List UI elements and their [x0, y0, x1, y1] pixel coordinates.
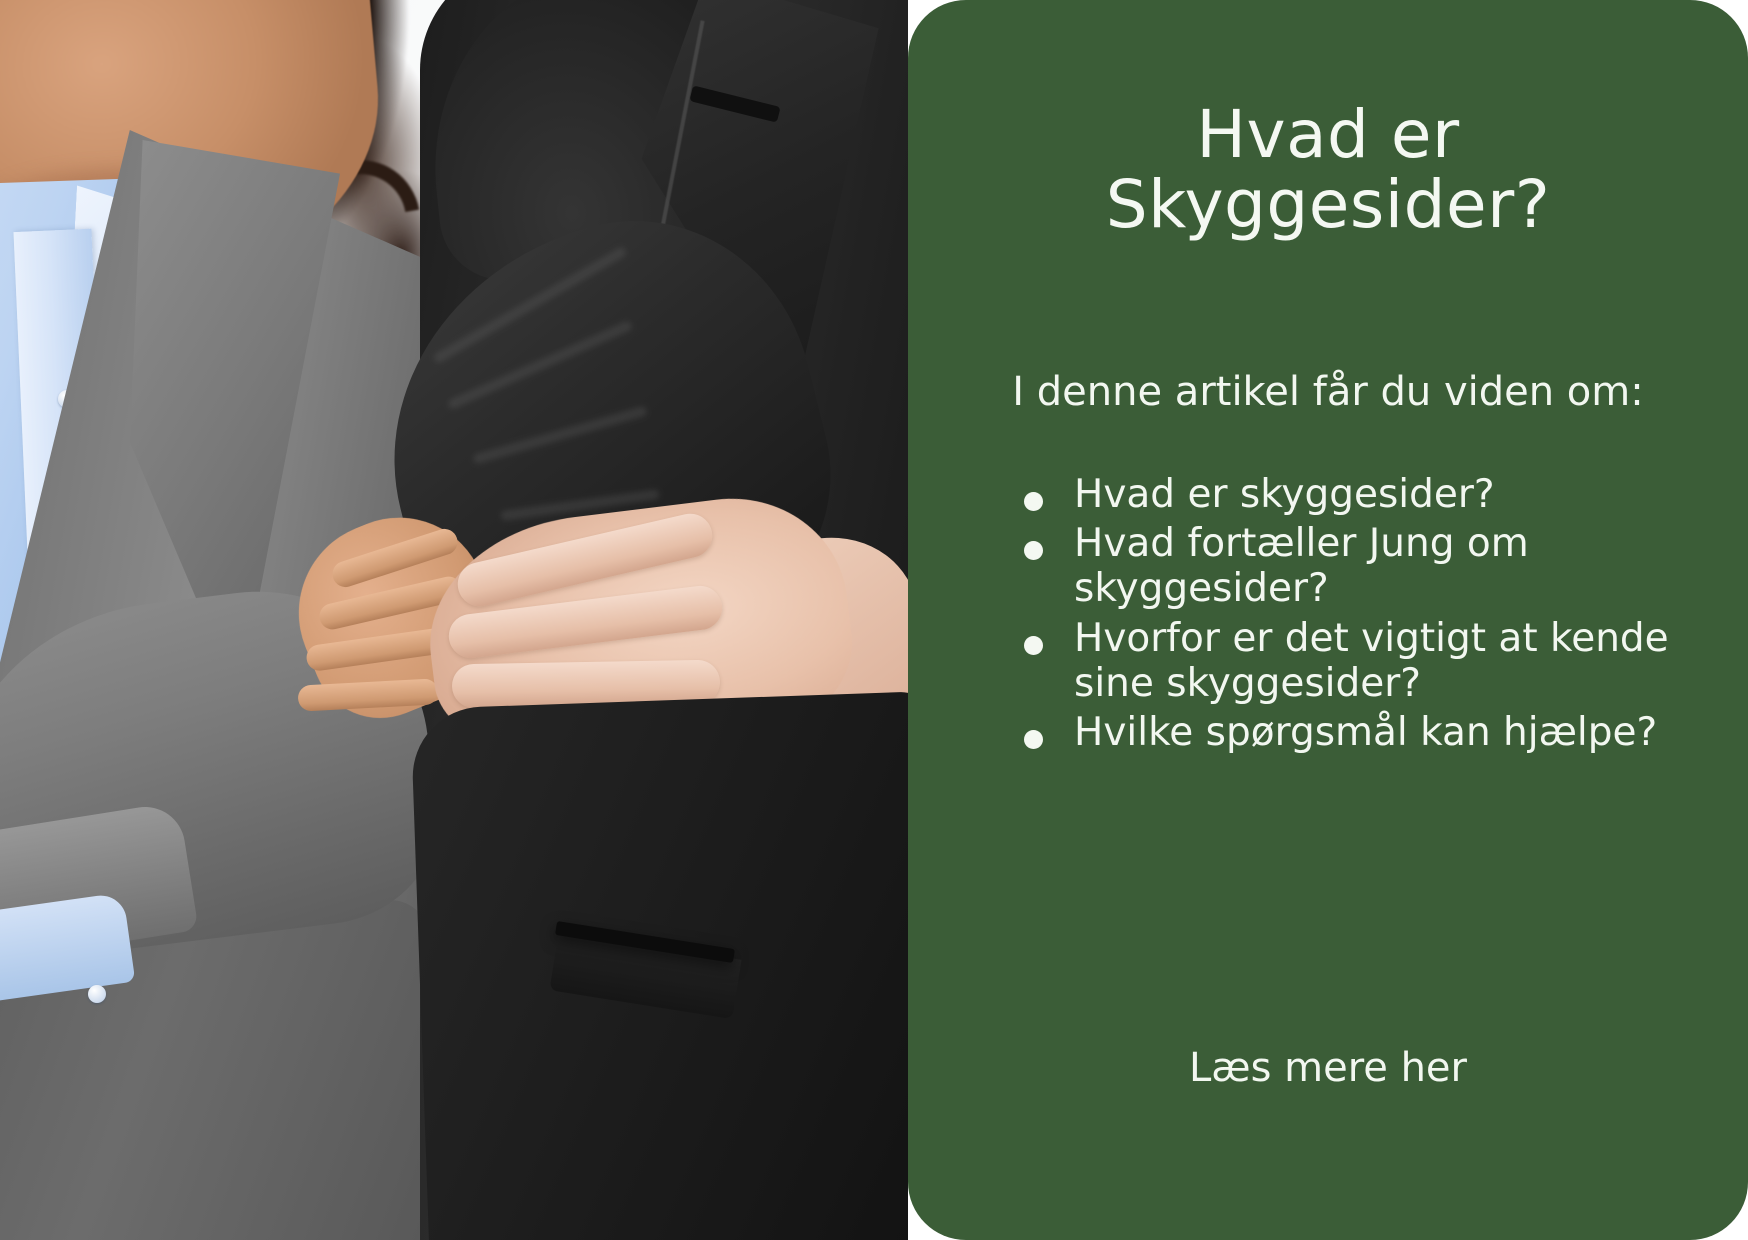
bullet-dot-icon	[1024, 636, 1043, 655]
hero-photo	[0, 0, 908, 1240]
list-item: Hvorfor er det vigtigt at kende sine sky…	[1016, 616, 1686, 706]
topic-list: Hvad er skyggesider? Hvad fortæller Jung…	[970, 472, 1686, 759]
read-more-link[interactable]: Læs mere her	[970, 1044, 1686, 1092]
list-item-label: Hvad fortæller Jung om skyggesider?	[1074, 521, 1529, 611]
list-item: Hvad er skyggesider?	[1016, 472, 1686, 517]
list-item: Hvilke spørgsmål kan hjælpe?	[1016, 710, 1686, 755]
shirt-button	[88, 985, 106, 1003]
list-item-label: Hvilke spørgsmål kan hjælpe?	[1074, 710, 1657, 755]
intro-text: I denne artikel får du viden om:	[970, 368, 1686, 416]
bullet-dot-icon	[1024, 492, 1043, 511]
photo-canvas	[0, 0, 908, 1240]
list-item-label: Hvad er skyggesider?	[1074, 472, 1495, 517]
bullet-dot-icon	[1024, 730, 1043, 749]
list-item: Hvad fortæller Jung om skyggesider?	[1016, 521, 1686, 611]
promo-poster: Hvad er Skyggesider? I denne artikel får…	[0, 0, 1748, 1240]
page-title: Hvad er Skyggesider?	[970, 100, 1686, 240]
bullet-dot-icon	[1024, 541, 1043, 560]
content-card: Hvad er Skyggesider? I denne artikel får…	[908, 0, 1748, 1240]
list-item-label: Hvorfor er det vigtigt at kende sine sky…	[1074, 616, 1669, 706]
